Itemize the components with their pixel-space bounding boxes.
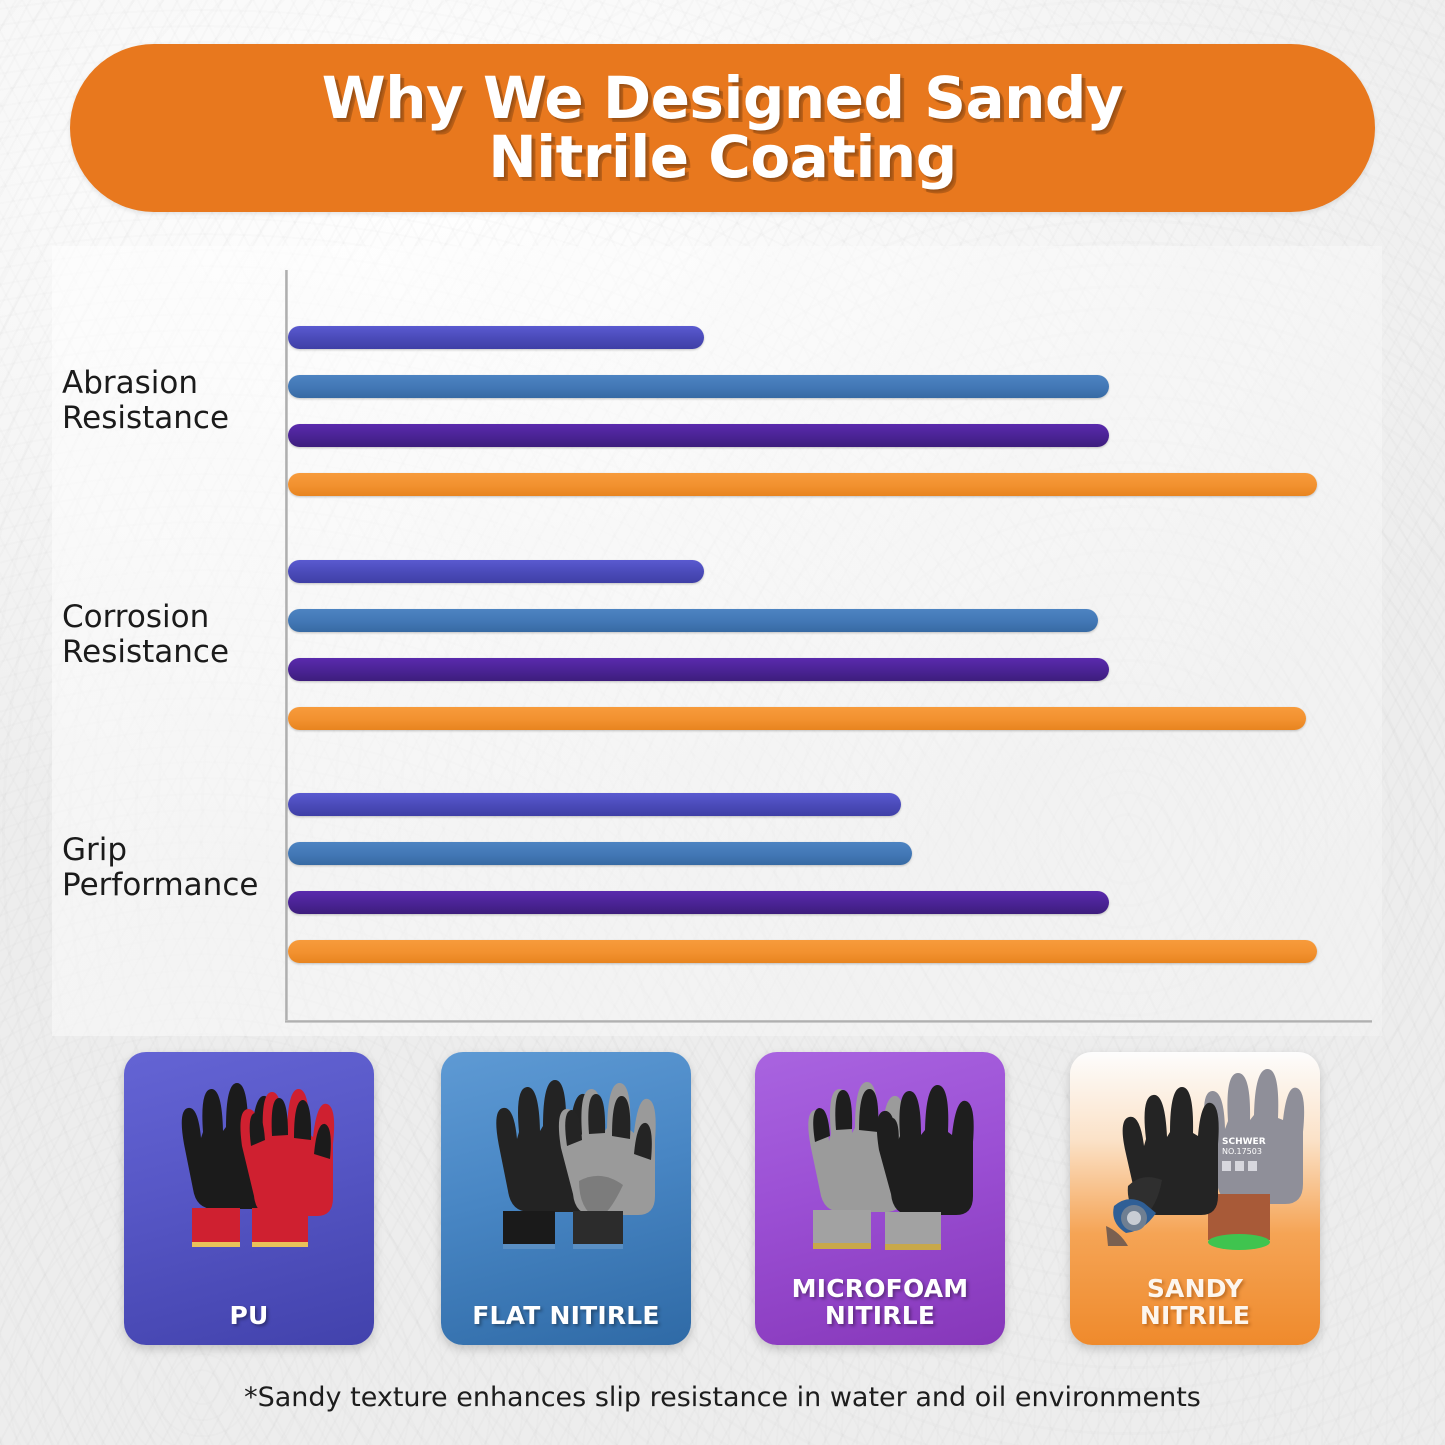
chart-bar — [288, 473, 1317, 496]
caption-line-1: SANDY — [1147, 1274, 1243, 1303]
infographic-page: Why We Designed Sandy Nitrile Coating Ab… — [0, 0, 1445, 1445]
chart-bar — [288, 560, 704, 583]
page-title: Why We Designed Sandy Nitrile Coating — [282, 69, 1163, 187]
product-card-caption: PU — [124, 1303, 374, 1330]
product-card-flat-nitrile[interactable]: FLAT NITIRLE — [441, 1052, 691, 1345]
category-label-line-1: Corrosion — [62, 599, 209, 635]
product-card-row: PU — [0, 1052, 1445, 1342]
category-label-line-2: Performance — [62, 867, 258, 903]
product-card-caption: SANDY NITRILE — [1070, 1276, 1320, 1329]
title-line-1: Why We Designed Sandy — [322, 64, 1123, 132]
chart-category-label: AbrasionResistance — [62, 366, 277, 437]
svg-text:SCHWER: SCHWER — [1222, 1137, 1266, 1147]
caption-line-1: PU — [229, 1301, 268, 1330]
chart-bar — [288, 940, 1317, 963]
product-card-caption: MICROFOAM NITIRLE — [755, 1276, 1005, 1329]
chart-category-label: GripPerformance — [62, 833, 277, 904]
product-card-microfoam-nitrile[interactable]: MICROFOAM NITIRLE — [755, 1052, 1005, 1345]
caption-line-2: NITIRLE — [825, 1301, 935, 1330]
category-label-line-1: Grip — [62, 832, 127, 868]
category-label-line-1: Abrasion — [62, 365, 198, 401]
chart-bar — [288, 326, 704, 349]
product-card-sandy-nitrile[interactable]: SCHWER NO.17503 — [1070, 1052, 1320, 1345]
chart-x-axis — [285, 1020, 1372, 1023]
footnote-text: *Sandy texture enhances slip resistance … — [0, 1382, 1445, 1413]
glove-flat-nitrile-icon — [441, 1066, 691, 1256]
chart-bar — [288, 375, 1109, 398]
glove-sandy-nitrile-icon: SCHWER NO.17503 — [1070, 1066, 1320, 1256]
svg-text:NO.17503: NO.17503 — [1222, 1147, 1262, 1156]
chart-bar — [288, 891, 1109, 914]
chart-category-label: CorrosionResistance — [62, 600, 277, 671]
product-card-caption: FLAT NITIRLE — [441, 1303, 691, 1330]
chart-bar — [288, 842, 912, 865]
category-label-line-2: Resistance — [62, 634, 229, 670]
category-label-line-2: Resistance — [62, 400, 229, 436]
product-card-pu[interactable]: PU — [124, 1052, 374, 1345]
glove-pu-icon — [124, 1066, 374, 1256]
chart-bar — [288, 424, 1109, 447]
title-badge: Why We Designed Sandy Nitrile Coating — [70, 44, 1375, 212]
caption-line-2: NITRILE — [1140, 1301, 1250, 1330]
chart-bar — [288, 609, 1098, 632]
chart-bar — [288, 658, 1109, 681]
caption-line-1: FLAT NITIRLE — [472, 1301, 659, 1330]
glove-microfoam-nitrile-icon — [755, 1066, 1005, 1256]
title-line-2: Nitrile Coating — [488, 123, 957, 191]
chart-bar — [288, 793, 901, 816]
caption-line-1: MICROFOAM — [792, 1274, 969, 1303]
chart-bar — [288, 707, 1306, 730]
